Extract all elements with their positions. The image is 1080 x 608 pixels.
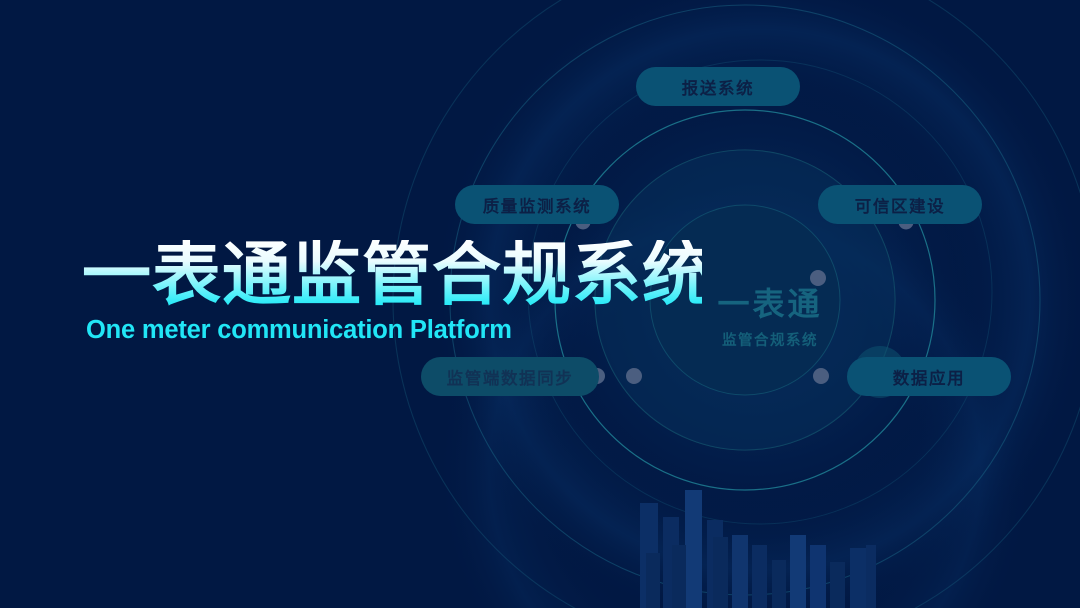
orbit-node-dot-right-inner [813,368,829,384]
orbit-node-dot-left-inner [626,368,642,384]
node-data-application[interactable]: 数据应用 [847,357,1011,396]
page-title: 一表通监管合规系统 [82,240,702,310]
decorative-bar-chart [640,490,876,608]
node-quality-monitoring[interactable]: 质量监测系统 [455,185,619,224]
node-trusted-zone[interactable]: 可信区建设 [818,185,982,224]
slide-canvas: 一表通监管合规系统 One meter communication Platfo… [0,0,1080,608]
node-report-system[interactable]: 报送系统 [636,67,800,106]
node-regulator-data-sync[interactable]: 监管端数据同步 [421,357,599,396]
title-block: 一表通监管合规系统 One meter communication Platfo… [82,240,702,345]
orbit-node-dot-mid-right [810,270,826,286]
page-subtitle: One meter communication Platform [86,316,702,345]
